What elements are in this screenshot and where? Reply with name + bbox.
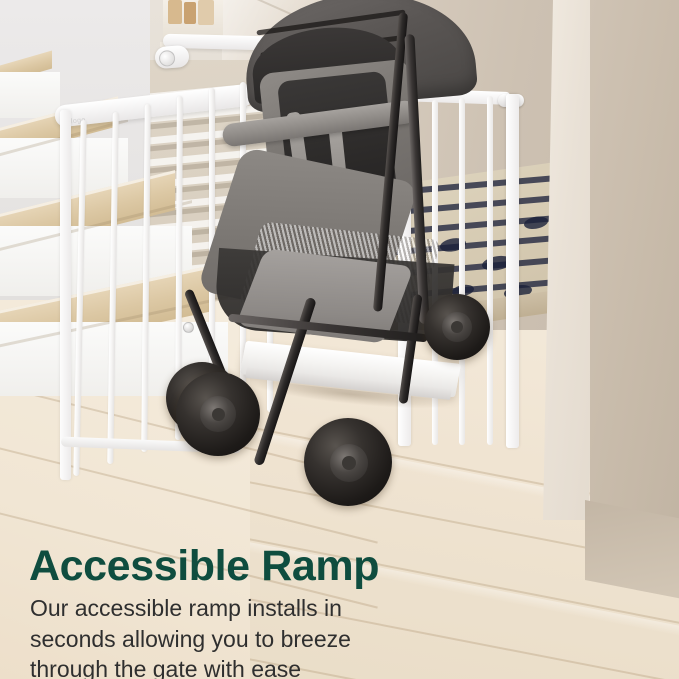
- stroller: [180, 0, 510, 514]
- gate-frame-left: [60, 110, 71, 480]
- stroller-wheel-hub-core: [342, 456, 356, 470]
- body-copy-line-3: through the gate with ease: [30, 654, 450, 679]
- wall-column-side: [590, 0, 679, 560]
- body-copy-line-2: seconds allowing you to breeze: [30, 624, 450, 655]
- gate-bar: [73, 120, 86, 476]
- body-copy-line-1: Our accessible ramp installs in: [30, 593, 450, 624]
- gate-bar: [141, 104, 151, 452]
- product-lifestyle-image: logo: [0, 0, 679, 679]
- page-title: Accessible Ramp: [29, 542, 379, 591]
- gate-bar: [107, 112, 119, 464]
- marketing-text-block: Accessible Ramp Our accessible ramp inst…: [0, 520, 679, 679]
- stroller-wheel-hub-core: [212, 408, 225, 421]
- body-copy: Our accessible ramp installs in seconds …: [30, 593, 450, 679]
- stroller-wheel-hub-core: [451, 321, 463, 333]
